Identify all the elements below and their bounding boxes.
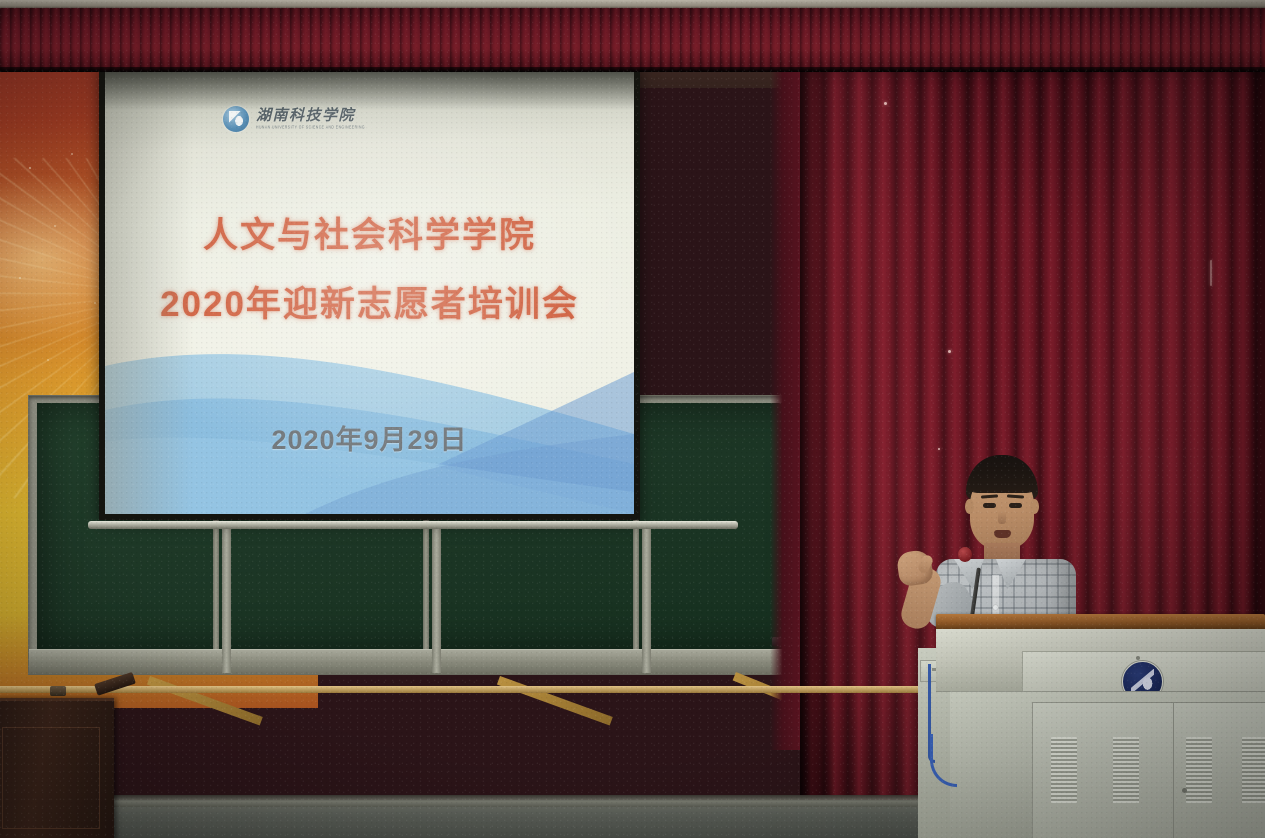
lectern-door-left[interactable] (1032, 702, 1174, 838)
lectern-front-band (936, 629, 1265, 692)
nose (998, 511, 1006, 524)
lectern (922, 614, 1265, 838)
mouth (994, 530, 1011, 538)
vent-louver (1186, 737, 1212, 803)
screen-surface: 湖南科技学院 HUNAN UNIVERSITY OF SCIENCE AND E… (105, 70, 634, 514)
desk-knob (50, 686, 66, 696)
ear-right (1030, 499, 1039, 514)
curtain-speck (938, 448, 940, 450)
cabinet-lock[interactable] (1182, 788, 1187, 793)
logo-english-name: HUNAN UNIVERSITY OF SCIENCE AND ENGINEER… (256, 126, 365, 130)
lectern-door-right[interactable] (1173, 702, 1265, 838)
curtain-valance (0, 8, 1265, 72)
tray-post (642, 527, 651, 673)
logo-wordmark: 湖南科技学院 HUNAN UNIVERSITY OF SCIENCE AND E… (256, 109, 365, 129)
tray-post (432, 527, 441, 673)
eye-right (1009, 503, 1022, 508)
vent-louver (1242, 737, 1265, 803)
curtain-speck (884, 102, 887, 105)
lectern-wooden-top (936, 614, 1265, 630)
curtain-thread (1210, 260, 1212, 286)
lectern-cabinet (950, 691, 1265, 838)
curtain-speck (948, 350, 951, 353)
screen-top-shadow (105, 70, 634, 110)
chalkboard-rail (29, 649, 819, 674)
projection-screen: 湖南科技学院 HUNAN UNIVERSITY OF SCIENCE AND E… (99, 64, 640, 520)
vent-louver (1113, 737, 1139, 803)
gooseneck-microphone-head (958, 547, 972, 562)
vent-louver (1051, 737, 1077, 803)
logo-chinese-name: 湖南科技学院 (256, 109, 365, 124)
tray-post (222, 527, 231, 673)
wooden-side-desk (0, 698, 114, 838)
shirt-button (993, 605, 998, 610)
ear-left (965, 499, 974, 514)
panel-screw (1136, 656, 1140, 660)
screen-shadow-band (105, 70, 193, 514)
eye-left (983, 503, 996, 508)
photograph-scene: 湖南科技学院 HUNAN UNIVERSITY OF SCIENCE AND E… (0, 0, 1265, 838)
screen-weight-bar (88, 521, 738, 529)
